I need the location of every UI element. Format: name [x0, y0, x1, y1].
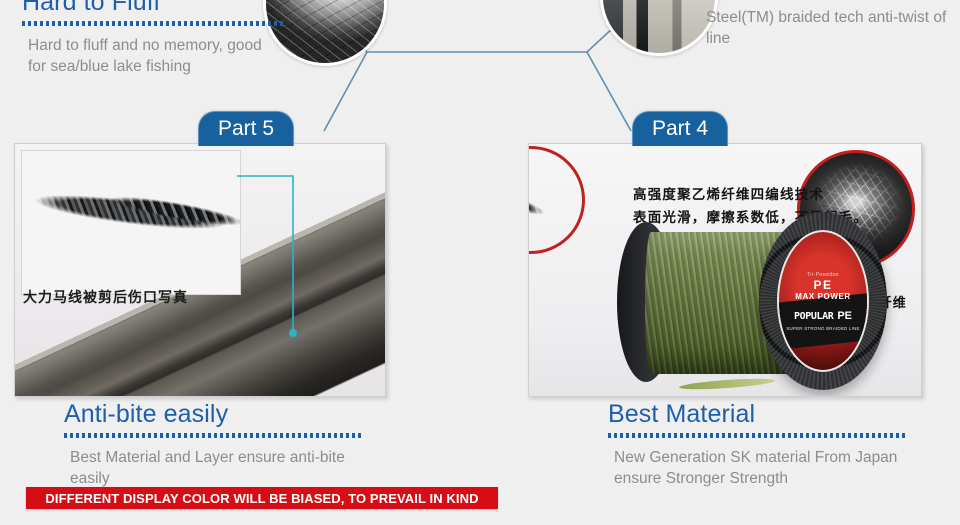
badge-part-4: Part 4 [632, 111, 728, 146]
spool-line-tail [679, 377, 775, 392]
product-spool: Tri-Poseidon PE MAX POWER POPULAR PE SUP… [611, 212, 861, 392]
spool-label-band-right: PE [837, 310, 852, 322]
spool-label-band: POPULAR PE [794, 310, 852, 322]
feature-description: Hard to fluff and no memory, good for se… [22, 35, 284, 77]
title-dotted-divider [608, 433, 908, 438]
feature-description: Steel(TM) braided tech anti-twist of lin… [700, 7, 950, 49]
spool-label-brand: Tri-Poseidon [807, 272, 839, 278]
feature-anti-bite-easily: Anti-bite easily Best Material and Layer… [64, 400, 364, 489]
feature-description: New Generation SK material From Japan en… [608, 447, 908, 489]
product-infographic: Hard to Fluff Hard to fluff and no memor… [0, 0, 960, 525]
feature-title: Hard to Fluff [22, 0, 284, 16]
badge-part-5: Part 5 [198, 111, 294, 146]
feature-hard-to-fluff: Hard to Fluff Hard to fluff and no memor… [22, 0, 284, 77]
panel-part-4: 高强度聚乙烯纤维四编线技术 表面光滑，摩擦系数低，不易起毛。 聚乙烯纤维 Tri… [528, 143, 922, 397]
panel-part-5: 大力马线被剪后伤口写真 [14, 143, 386, 397]
feature-anti-twist: Steel(TM) braided tech anti-twist of lin… [700, 0, 950, 49]
feature-title: Best Material [608, 400, 908, 428]
spool-label-tagline: MAX POWER [795, 292, 851, 301]
spool-label-fine-print: SUPER STRONG BRAIDED LINE [786, 326, 860, 331]
spool-label-name: PE [813, 279, 832, 291]
spool-label-band-left: POPULAR [794, 311, 833, 322]
feature-best-material: Best Material New Generation SK material… [608, 400, 908, 489]
braided-line-strand [528, 167, 552, 225]
title-dotted-divider [22, 21, 284, 26]
feature-title: Anti-bite easily [64, 400, 364, 428]
leader-line [15, 144, 385, 396]
spool-label: Tri-Poseidon PE MAX POWER POPULAR PE SUP… [777, 230, 869, 372]
title-dotted-divider [64, 433, 364, 438]
panel-headline-cn-line1: 高强度聚乙烯纤维四编线技术 [633, 183, 824, 203]
display-color-warning-banner: DIFFERENT DISPLAY COLOR WILL BE BIASED, … [26, 487, 498, 509]
spool-front-flange: Tri-Poseidon PE MAX POWER POPULAR PE SUP… [759, 212, 887, 390]
feature-description: Best Material and Layer ensure anti-bite… [64, 447, 364, 489]
